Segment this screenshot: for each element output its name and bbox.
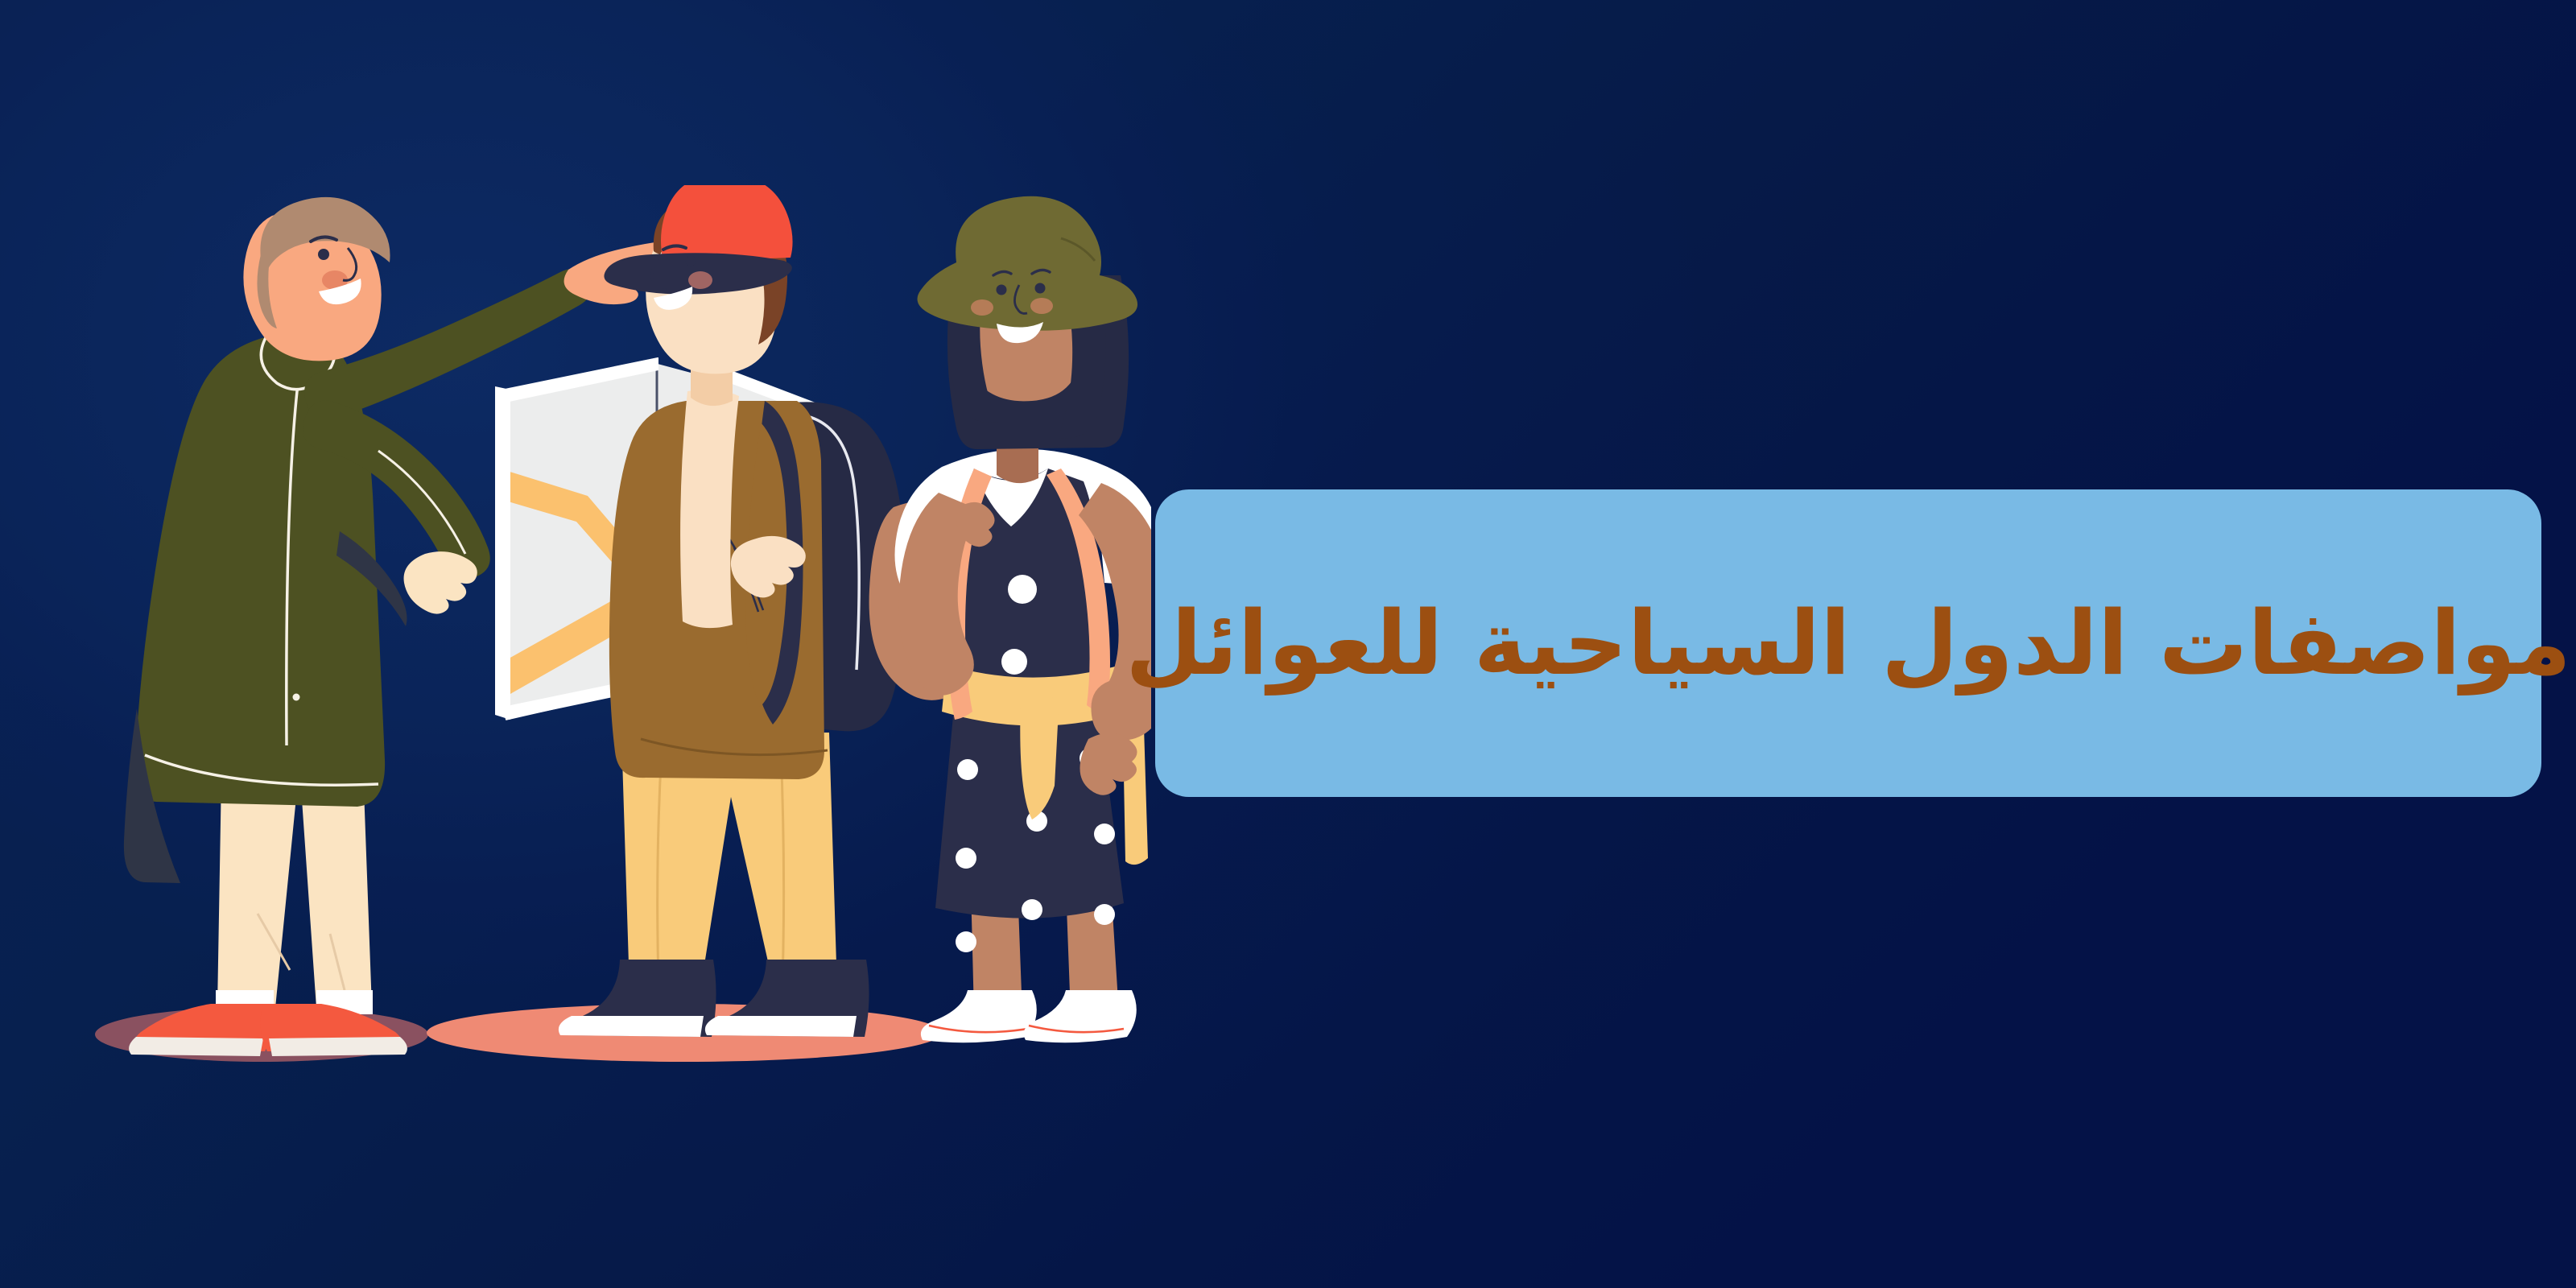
right-figure-polka-dot [957, 759, 978, 780]
right-figure-button-2 [1001, 649, 1027, 675]
title-banner: مواصفات الدول السياحية للعوائل [1155, 489, 2541, 797]
center-figure-cheek [688, 271, 712, 289]
right-figure-cheek-right [1030, 298, 1053, 314]
right-figure-polka-dot [956, 931, 976, 952]
left-figure-eye [318, 249, 329, 260]
center-figure-boot-left-sole [559, 1016, 704, 1037]
right-figure-polka-dot [956, 848, 976, 869]
illustration-three-travelers [89, 185, 1151, 1079]
right-figure-bucket-hat [918, 196, 1138, 331]
page-title: مواصفات الدول السياحية للعوائل [1093, 592, 2576, 695]
right-figure-cheek-left [971, 299, 993, 316]
left-figure-shoe-back-sole [129, 1037, 263, 1056]
left-figure-parka-button [293, 694, 300, 701]
right-figure-polka-dot [1022, 899, 1042, 920]
right-figure-eye-left [997, 285, 1007, 295]
right-figure-polka-dot [1094, 824, 1115, 844]
center-figure-cap-crown [661, 185, 793, 262]
center-figure-eye [686, 256, 696, 266]
left-figure-shoe-front-sole [269, 1037, 407, 1056]
right-figure-eye-right [1035, 283, 1046, 294]
center-figure-boot-right-sole [705, 1016, 857, 1037]
left-figure-grip-hand [404, 551, 477, 613]
center-figure-tee [680, 390, 739, 628]
poster-canvas: مواصفات الدول السياحية للعوائل [0, 0, 2576, 1288]
right-figure-shoe-left [921, 990, 1037, 1042]
right-figure-shoe-right [1024, 990, 1137, 1042]
right-figure-polka-dot [1094, 904, 1115, 925]
figure-center-map-holder [559, 185, 905, 1037]
map-edge-left [495, 386, 510, 720]
right-figure-button-1 [1008, 575, 1037, 604]
travelers-illustration-svg [89, 185, 1151, 1079]
